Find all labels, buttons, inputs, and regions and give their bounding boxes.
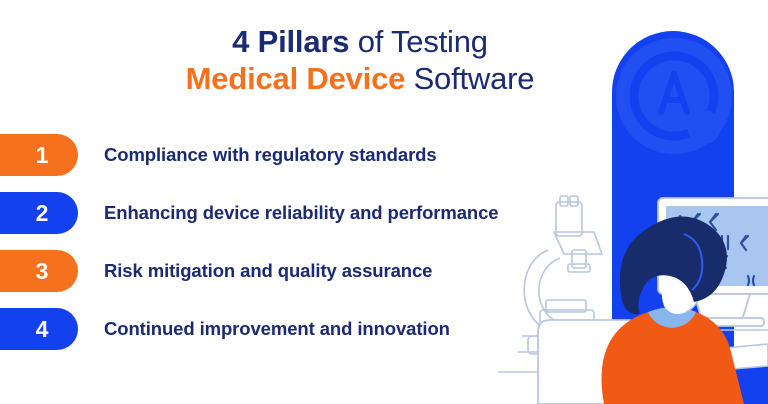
pillar-badge-3: 3 — [0, 250, 78, 292]
pillar-text-1: Compliance with regulatory standards — [104, 144, 437, 166]
title-line-1-rest: of Testing — [349, 24, 488, 59]
pillar-list: 1 Compliance with regulatory standards 2… — [0, 134, 560, 366]
pillar-badge-4: 4 — [0, 308, 78, 350]
title-line-1-strong: 4 Pillars — [232, 24, 349, 59]
list-item: 3 Risk mitigation and quality assurance — [0, 250, 560, 292]
title-line-2: Medical Device Software — [120, 61, 600, 98]
title-line-1: 4 Pillars of Testing — [120, 24, 600, 61]
list-item: 2 Enhancing device reliability and perfo… — [0, 192, 560, 234]
title-line-2-strong: Medical Device — [186, 61, 405, 96]
pillar-number-2: 2 — [30, 202, 49, 225]
page-title: 4 Pillars of Testing Medical Device Soft… — [120, 24, 600, 97]
pillar-badge-2: 2 — [0, 192, 78, 234]
pillar-badge-1: 1 — [0, 134, 78, 176]
circular-a-logo-watermark — [616, 38, 732, 154]
infographic-canvas: 4 Pillars of Testing Medical Device Soft… — [0, 0, 768, 404]
list-item: 4 Continued improvement and innovation — [0, 308, 560, 350]
pillar-text-3: Risk mitigation and quality assurance — [104, 260, 432, 282]
pillar-text-4: Continued improvement and innovation — [104, 318, 450, 340]
pillar-number-3: 3 — [30, 260, 49, 283]
pillar-number-4: 4 — [30, 318, 49, 341]
pillar-text-2: Enhancing device reliability and perform… — [104, 202, 499, 224]
title-line-2-rest: Software — [405, 61, 534, 96]
list-item: 1 Compliance with regulatory standards — [0, 134, 560, 176]
pillar-number-1: 1 — [30, 144, 49, 167]
